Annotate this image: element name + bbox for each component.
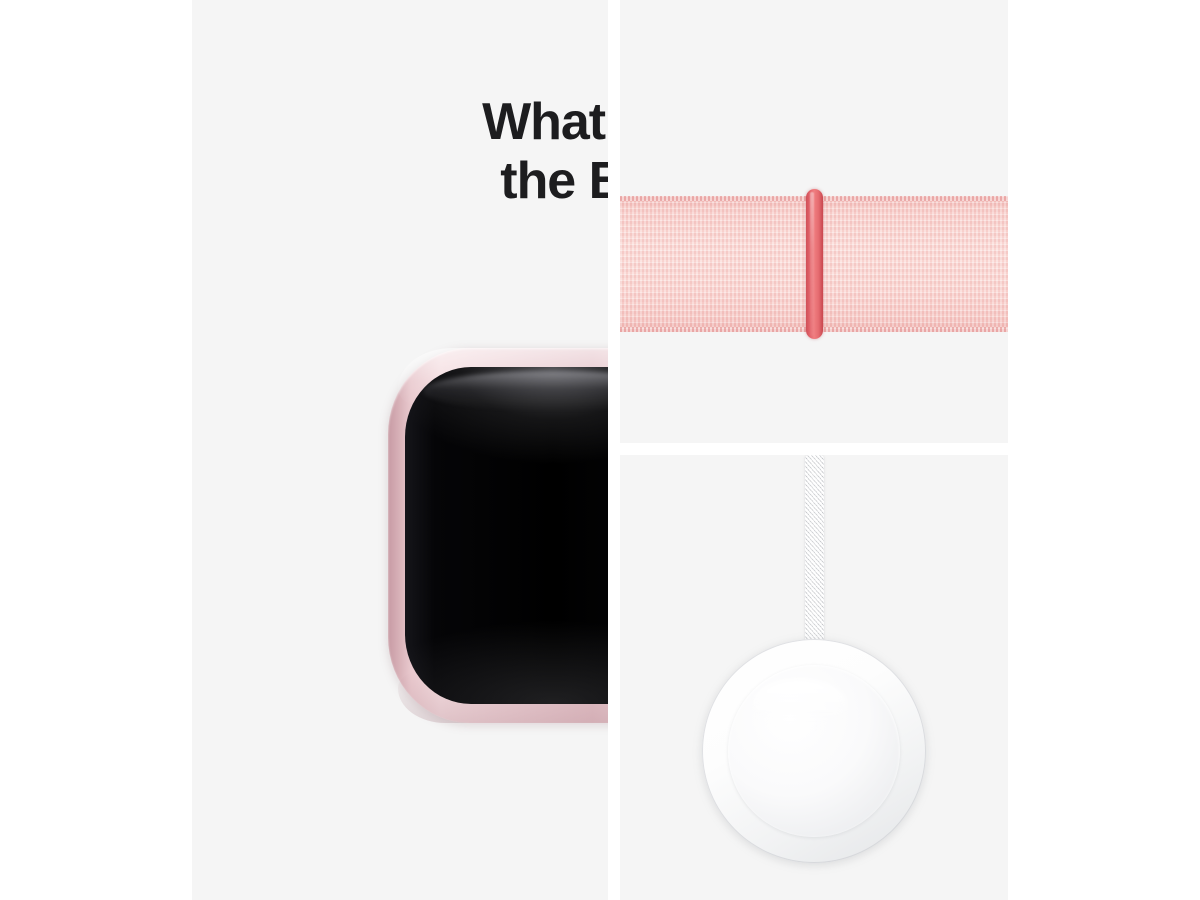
panel-whats-in-the-box: What’s in the Box — [192, 0, 608, 900]
band-accent-stripe — [806, 189, 823, 339]
puck-gloss — [752, 679, 848, 731]
panel-sport-loop: Sport Loop — [620, 0, 1008, 443]
charging-cable-image — [620, 455, 1008, 900]
apple-watch-image — [388, 348, 608, 723]
magnetic-charging-puck — [702, 639, 926, 863]
puck-inner-disc — [728, 665, 900, 837]
panel-charging-cable: USB-C Magnetic Fast Charging Cable — [620, 455, 1008, 900]
screen-glare — [423, 371, 608, 411]
sport-loop-band-image — [620, 196, 1008, 332]
product-gallery: What’s in the Box Sport Loop — [0, 0, 1200, 900]
braided-cable — [805, 455, 824, 655]
watch-case — [388, 348, 608, 723]
page-title: What’s in the Box — [384, 93, 608, 212]
watch-screen — [405, 367, 608, 704]
